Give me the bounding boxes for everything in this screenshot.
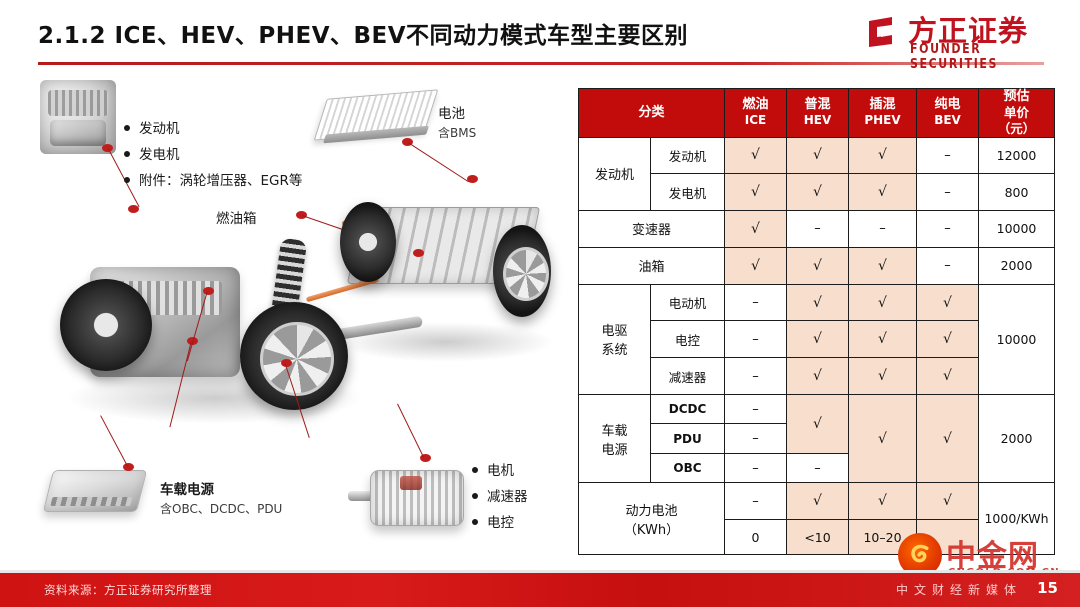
cell-ice-capacity: 0 <box>725 520 787 555</box>
row-label-fuel-tank: 油箱 <box>579 247 725 284</box>
cell-phev: √ <box>849 321 917 358</box>
watermark-tagline: 中文财经新媒体 <box>896 581 1022 598</box>
table-header-row: 分类 燃油 ICE 普混 HEV 插混 PHEV 纯电 <box>579 89 1055 138</box>
group-label-traction-battery: 动力电池 （KWh） <box>579 483 725 555</box>
price-line-1: 预估 <box>1004 89 1030 104</box>
group-label-onboard-power: 车载 电源 <box>579 394 651 482</box>
cell-hev-capacity: <10 <box>787 520 849 555</box>
bullet-dot-icon <box>124 125 130 131</box>
group-label-onboard-l2: 电源 <box>601 443 627 458</box>
cell-ice: √ <box>725 137 787 174</box>
bullet-dot-icon <box>472 519 478 525</box>
battery-label-l2: （KWh） <box>624 523 679 538</box>
header-category: 分类 <box>579 89 725 138</box>
cell-ice: √ <box>725 174 787 211</box>
table-row: 车载 电源 DCDC – √ √ √ 2000 <box>579 394 1055 423</box>
slide-root: 2.1.2 ICE、HEV、PHEV、BEV不同动力模式车型主要区别 方正证券 … <box>0 0 1080 607</box>
cell-hev: √ <box>787 483 849 520</box>
cell-phev: √ <box>849 137 917 174</box>
page-number: 15 <box>1037 579 1058 597</box>
price-line-3: （元） <box>979 121 1054 137</box>
header-col-hev-en: HEV <box>787 113 848 128</box>
group-label-edrive: 电驱 系统 <box>579 284 651 394</box>
cell-hev-merged: √ <box>787 394 849 453</box>
group-label-engine: 发动机 <box>579 137 651 211</box>
cell-hev: √ <box>787 137 849 174</box>
table-row: 发动机 发动机 √ √ √ – 12000 <box>579 137 1055 174</box>
logo-mark-icon <box>866 14 900 48</box>
header-col-ice-en: ICE <box>725 113 786 128</box>
motor-thumbnail-image <box>348 460 478 536</box>
battery-label: 电池 <box>438 104 465 125</box>
comparison-table: 分类 燃油 ICE 普混 HEV 插混 PHEV 纯电 <box>578 88 1055 555</box>
row-label-emotor: 电动机 <box>651 284 725 321</box>
row-label-reducer: 减速器 <box>651 358 725 395</box>
logo-english-name: FOUNDER SECURITIES <box>910 41 1062 72</box>
cell-phev: √ <box>849 247 917 284</box>
header-col-price: 预估 单价 （元） <box>979 89 1055 138</box>
cell-price: 10000 <box>979 211 1055 248</box>
cell-ice: – <box>725 284 787 321</box>
cell-phev: √ <box>849 483 917 520</box>
row-label-transmission: 变速器 <box>579 211 725 248</box>
cell-ice: – <box>725 358 787 395</box>
cell-phev-merged: √ <box>849 394 917 482</box>
obc-label: 车载电源 <box>160 480 214 501</box>
header-col-bev-en: BEV <box>917 113 978 128</box>
list-item: 电控 <box>472 510 528 536</box>
group-label-onboard-l1: 车载 <box>601 424 627 439</box>
row-label-engine: 发动机 <box>651 137 725 174</box>
motor-bullet-list: 电机 减速器 电控 <box>472 458 528 536</box>
table-row: 油箱 √ √ √ – 2000 <box>579 247 1055 284</box>
cell-phev: √ <box>849 284 917 321</box>
cell-ice: – <box>725 424 787 453</box>
table-row: 动力电池 （KWh） – √ √ √ 1000/KWh <box>579 483 1055 520</box>
battery-label-l1: 动力电池 <box>626 504 678 519</box>
header-col-bev-cn: 纯电 <box>935 97 961 112</box>
tire-rear-left <box>340 202 396 282</box>
cell-bev: √ <box>917 321 979 358</box>
cell-hev: – <box>787 211 849 248</box>
header-col-ice-cn: 燃油 <box>743 97 769 112</box>
wheel-rim <box>503 247 549 301</box>
title-underline <box>38 62 1044 65</box>
group-label-edrive-l1: 电驱 <box>601 324 627 339</box>
cell-ice: – <box>725 321 787 358</box>
cell-ice: – <box>725 483 787 520</box>
cell-price: 800 <box>979 174 1055 211</box>
cell-bev: – <box>917 211 979 248</box>
list-item: 电机 <box>472 458 528 484</box>
cell-hev: – <box>787 453 849 482</box>
cell-phev: √ <box>849 174 917 211</box>
header-col-ice: 燃油 ICE <box>725 89 787 138</box>
cell-hev: √ <box>787 284 849 321</box>
cell-price: 1000/KWh <box>979 483 1055 555</box>
header-col-phev: 插混 PHEV <box>849 89 917 138</box>
cell-price: 2000 <box>979 394 1055 482</box>
list-item: 发电机 <box>124 142 302 168</box>
vehicle-chassis-image <box>55 167 555 467</box>
source-note: 资料来源：方正证券研究所整理 <box>44 582 212 598</box>
header-col-bev: 纯电 BEV <box>917 89 979 138</box>
battery-sublabel: 含BMS <box>438 124 476 143</box>
obc-sublabel: 含OBC、DCDC、PDU <box>160 500 282 519</box>
wheel-rim <box>260 322 334 396</box>
cell-phev: √ <box>849 358 917 395</box>
header-col-hev-cn: 普混 <box>805 97 831 112</box>
cell-hev: √ <box>787 247 849 284</box>
cell-ice: √ <box>725 211 787 248</box>
footer-bar: 资料来源：方正证券研究所整理 中文财经新媒体 15 <box>0 573 1080 607</box>
table-row: 电驱 系统 电动机 – √ √ √ 10000 <box>579 284 1055 321</box>
cell-hev: √ <box>787 321 849 358</box>
price-line-2: 单价 <box>979 105 1054 121</box>
cell-ice: √ <box>725 247 787 284</box>
obc-leader-nub <box>123 463 134 471</box>
cell-bev-capacity <box>917 520 979 555</box>
cell-bev: √ <box>917 284 979 321</box>
page-title: 2.1.2 ICE、HEV、PHEV、BEV不同动力模式车型主要区别 <box>38 16 688 50</box>
comparison-table-wrapper: 分类 燃油 ICE 普混 HEV 插混 PHEV 纯电 <box>578 88 1054 555</box>
table-row: 变速器 √ – – – 10000 <box>579 211 1055 248</box>
cell-bev: √ <box>917 483 979 520</box>
tire-front-left <box>60 279 152 371</box>
row-label-pdu: PDU <box>651 424 725 453</box>
bullet-dot-icon <box>472 467 478 473</box>
cell-bev: – <box>917 174 979 211</box>
row-label-generator: 发电机 <box>651 174 725 211</box>
cell-ice: – <box>725 394 787 423</box>
bullet-dot-icon <box>472 493 478 499</box>
header-col-hev: 普混 HEV <box>787 89 849 138</box>
table-row: 发电机 √ √ √ – 800 <box>579 174 1055 211</box>
engine-thumbnail-image <box>40 80 116 154</box>
group-label-edrive-l2: 系统 <box>601 343 627 358</box>
tire-rear-right <box>493 225 551 317</box>
cell-price: 12000 <box>979 137 1055 174</box>
powertrain-diagram: 发动机 发电机 附件：涡轮增压器、EGR等 电池 含BMS 燃油箱 <box>20 72 565 552</box>
cell-bev: √ <box>917 358 979 395</box>
cell-phev: – <box>849 211 917 248</box>
list-item: 发动机 <box>124 116 302 142</box>
list-item: 减速器 <box>472 484 528 510</box>
cell-price: 2000 <box>979 247 1055 284</box>
cell-bev-merged: √ <box>917 394 979 482</box>
row-label-dcdc: DCDC <box>651 394 725 423</box>
company-logo: 方正证券 FOUNDER SECURITIES <box>866 8 1062 60</box>
cell-bev: – <box>917 137 979 174</box>
battery-thumbnail-image <box>316 86 434 148</box>
cell-hev: √ <box>787 358 849 395</box>
cell-bev: – <box>917 247 979 284</box>
chassis-nub <box>413 249 424 257</box>
header-col-phev-en: PHEV <box>849 113 916 128</box>
row-label-obc: OBC <box>651 453 725 482</box>
header-col-phev-cn: 插混 <box>870 97 896 112</box>
cell-phev-capacity: 10–20 <box>849 520 917 555</box>
cell-ice: – <box>725 453 787 482</box>
bullet-dot-icon <box>124 151 130 157</box>
cell-price: 10000 <box>979 284 1055 394</box>
row-label-econtrol: 电控 <box>651 321 725 358</box>
cell-hev: √ <box>787 174 849 211</box>
